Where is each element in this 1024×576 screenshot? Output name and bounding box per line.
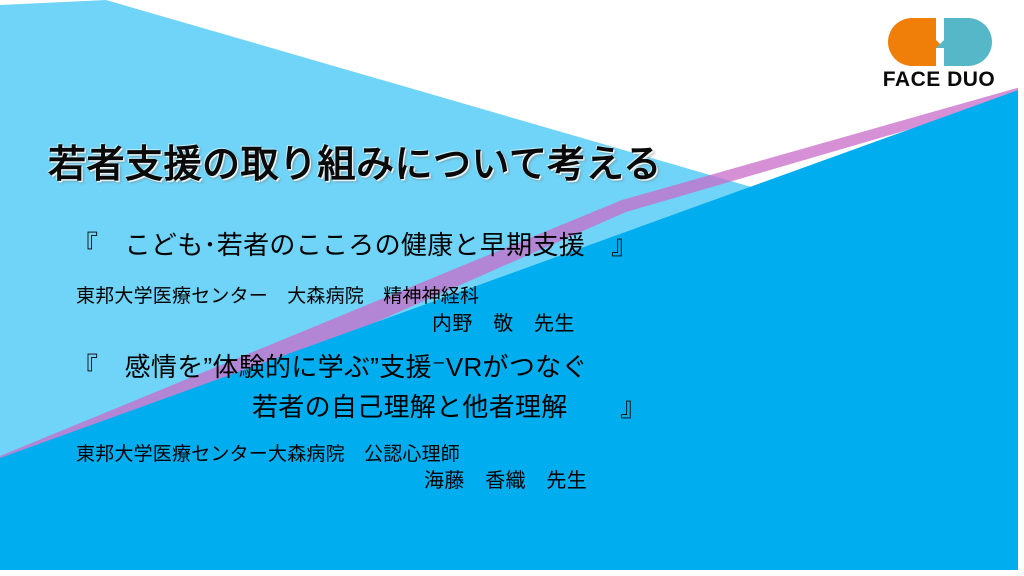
face-duo-logo-mark <box>888 18 992 66</box>
logo-orange-shape <box>888 18 944 66</box>
presentation-slide: FACE DUO 若者支援の取り組みについて考える 『 こども･若者のこころの健… <box>0 0 1024 576</box>
slide-content: 若者支援の取り組みについて考える 『 こども･若者のこころの健康と早期支援 』 … <box>0 0 1024 576</box>
face-duo-logo: FACE DUO <box>880 18 998 96</box>
session-1-speaker: 内野 敬 先生 <box>432 307 575 336</box>
session-2-affiliation: 東邦大学医療センター大森病院 公認心理師 <box>76 439 460 466</box>
session-1-affiliation: 東邦大学医療センター 大森病院 精神神経科 <box>76 281 479 308</box>
session-2-speaker: 海藤 香織 先生 <box>424 464 587 493</box>
face-duo-wordmark: FACE DUO <box>880 68 998 92</box>
session-2-title-line-1: 『 感情を”体験的に学ぶ”支援⁻VRがつなぐ <box>72 347 588 384</box>
session-1-title: 『 こども･若者のこころの健康と早期支援 』 <box>72 225 638 262</box>
session-2-title-line-2: 若者の自己理解と他者理解 』 <box>252 387 647 424</box>
logo-teal-shape <box>936 18 992 66</box>
slide-main-title: 若者支援の取り組みについて考える <box>48 133 662 188</box>
